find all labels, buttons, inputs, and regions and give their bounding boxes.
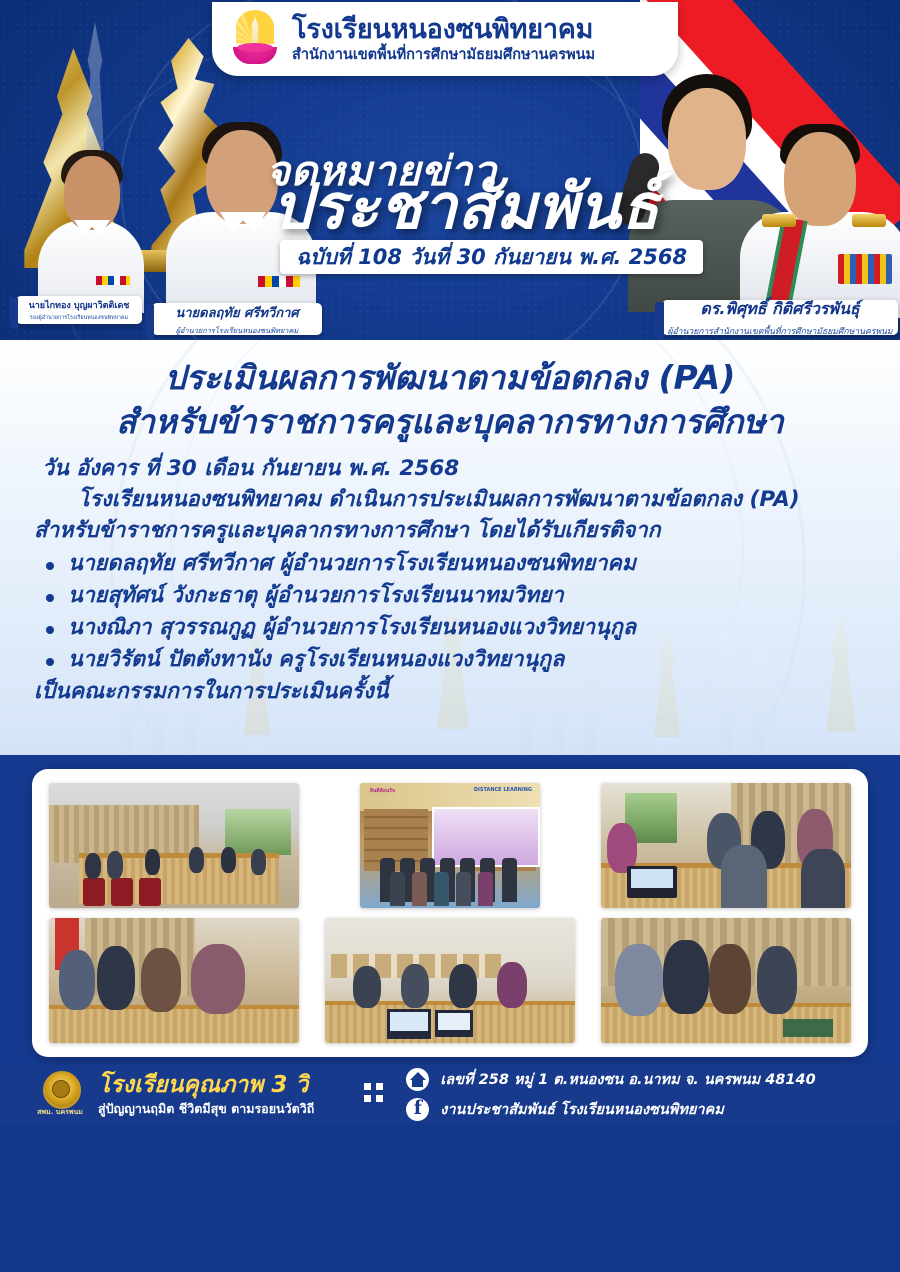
photo-person: [801, 849, 845, 908]
facebook-glyph: f: [414, 1099, 422, 1118]
emblem-lotus-base: [233, 47, 277, 64]
list-item: นางณิภา สุวรรณกูฏ ผู้อำนวยการโรงเรียนหนอ…: [34, 613, 872, 644]
gallery-photo-1: [49, 783, 299, 908]
dot: [364, 1083, 371, 1090]
photo-person: [191, 944, 245, 1014]
photo-person: [107, 851, 123, 879]
footer-dot-separator: [364, 1083, 384, 1105]
slogan-sub: สู่ปัญญานฤมิต ชีวิตมีสุข ตามรอยนวัตวิถี: [98, 1102, 314, 1115]
school-emblem-icon: [228, 9, 282, 69]
portrait-medal-ribbon: [96, 276, 130, 285]
issue-date-badge: ฉบับที่ 108 วันที่ 30 กันยายน พ.ศ. 2568: [280, 240, 703, 274]
facebook-icon[interactable]: f: [406, 1098, 429, 1121]
photo-banner-text: DISTANCE LEARNING: [474, 787, 532, 793]
portrait-medal-ribbon: [258, 276, 300, 287]
footer-address: เลขที่ 258 หมู่ 1 ต.หนองซน อ.นาทม จ. นคร…: [440, 1068, 815, 1091]
photo-person: [412, 872, 427, 906]
photo-laptop: [627, 866, 677, 898]
portrait-area-director: [740, 108, 900, 318]
portrait-epaulet-right: [852, 214, 886, 227]
photo-shelf: [364, 809, 428, 871]
photo-person: [97, 946, 135, 1010]
photo-person: [502, 858, 517, 902]
headline-line1: ประเมินผลการพัฒนาตามข้อตกลง (PA): [0, 356, 900, 400]
name-tag-name: นายดลฤทัย ศรีทวีกาศ: [175, 302, 298, 323]
body-line-subject: สำหรับข้าราชการครูและบุคลากรทางการศึกษา …: [34, 516, 872, 547]
home-icon: [406, 1068, 429, 1091]
name-tag-role: รองผู้อำนวยการโรงเรียนหนองซนพิทยาคม: [30, 314, 128, 322]
photo-grid: ยินดีต้อนรับ DISTANCE LEARNING: [32, 769, 868, 1057]
photo-chair: [139, 878, 161, 906]
newsletter-title-line2: ประชาสัมพันธ์: [272, 176, 742, 238]
gallery-photo-6: [601, 918, 851, 1043]
body-line-intro: โรงเรียนหนองซนพิทยาคม ดำเนินการประเมินผล…: [78, 485, 872, 516]
photo-desk-pad: [783, 1019, 833, 1037]
photo-gallery-section: ยินดีต้อนรับ DISTANCE LEARNING: [0, 755, 900, 1065]
footer-address-row: เลขที่ 258 หมู่ 1 ต.หนองซน อ.นาทม จ. นคร…: [406, 1068, 815, 1091]
list-item: นายดลฤทัย ศรีทวีกาศ ผู้อำนวยการโรงเรียนห…: [34, 549, 872, 580]
logo-label: สพม. นครพนม: [34, 1107, 86, 1118]
gallery-photo-3: [601, 783, 851, 908]
photo-person: [221, 847, 236, 873]
dot: [376, 1095, 383, 1102]
gallery-photo-4: [49, 918, 299, 1043]
photo-person: [434, 872, 449, 906]
photo-person: [145, 849, 160, 875]
photo-person: [390, 872, 405, 906]
headline-line2: สำหรับข้าราชการครูและบุคลากรทางการศึกษา: [0, 400, 900, 444]
name-tag-name: ดร.พิศุทธิ์ กิติศรีวรพันธุ์: [700, 297, 859, 322]
home-icon-body: [412, 1080, 423, 1087]
portrait-face: [668, 88, 746, 190]
headline: ประเมินผลการพัฒนาตามข้อตกลง (PA) สำหรับข…: [0, 356, 900, 443]
name-tag-name: นายไกทอง บุญผาวิตติเดช: [29, 298, 130, 312]
school-office-name: สำนักงานเขตพื้นที่การศึกษามัธยมศึกษานครพ…: [292, 48, 595, 63]
photo-person: [189, 847, 204, 873]
header-banner: โรงเรียนหนองซนพิทยาคม สำนักงานเขตพื้นที่…: [0, 0, 900, 340]
footer-facebook-row[interactable]: f งานประชาสัมพันธ์ โรงเรียนหนองซนพิทยาคม: [406, 1098, 815, 1121]
committee-list: นายดลฤทัย ศรีทวีกาศ ผู้อำนวยการโรงเรียนห…: [34, 549, 872, 676]
photo-person: [401, 964, 429, 1008]
logo-inner: [52, 1080, 70, 1098]
photo-laptop: [435, 1010, 473, 1037]
photo-person: [449, 964, 477, 1008]
body-line-closing: เป็นคณะกรรมการในการประเมินครั้งนี้: [34, 677, 872, 708]
gallery-photo-2: ยินดีต้อนรับ DISTANCE LEARNING: [360, 783, 540, 908]
footer-facebook: งานประชาสัมพันธ์ โรงเรียนหนองซนพิทยาคม: [440, 1098, 724, 1121]
photo-person: [615, 944, 663, 1016]
body-text-block: วัน อังคาร ที่ 30 เดือน กันยายน พ.ศ. 256…: [34, 454, 872, 708]
portrait-deputy-director: [38, 128, 144, 313]
content-section: ประเมินผลการพัฒนาตามข้อตกลง (PA) สำหรับข…: [0, 340, 900, 755]
photo-chair: [111, 878, 133, 906]
photo-person: [497, 962, 527, 1008]
photo-person: [251, 849, 266, 875]
list-item: นายสุทัศน์ วังกะธาตุ ผู้อำนวยการโรงเรียน…: [34, 581, 872, 612]
photo-banner-text: ยินดีต้อนรับ: [370, 787, 395, 795]
portrait-medals: [838, 254, 892, 284]
portrait-face: [64, 156, 120, 230]
photo-person: [353, 966, 381, 1008]
body-line-date: วัน อังคาร ที่ 30 เดือน กันยายน พ.ศ. 256…: [42, 454, 872, 485]
newsletter-page: โรงเรียนหนองซนพิทยาคม สำนักงานเขตพื้นที่…: [0, 0, 900, 1272]
photo-person: [709, 944, 751, 1014]
dot: [364, 1095, 371, 1102]
photo-table: [49, 1005, 299, 1043]
footer-bar: สพม. นครพนม โรงเรียนคุณภาพ 3 วิ สู่ปัญญา…: [0, 1065, 900, 1123]
home-icon-roof: [410, 1072, 426, 1080]
dot: [376, 1083, 383, 1090]
name-tag-area-director: ดร.พิศุทธิ์ กิติศรีวรพันธุ์ ผู้อำนวยการส…: [662, 300, 898, 335]
photo-chair: [83, 878, 105, 906]
footer-slogan-block: โรงเรียนคุณภาพ 3 วิ สู่ปัญญานฤมิต ชีวิตม…: [98, 1073, 314, 1114]
photo-laptop: [387, 1009, 431, 1039]
photo-person: [59, 950, 95, 1010]
school-name: โรงเรียนหนองซนพิทยาคม: [292, 16, 595, 43]
footer-contact-block: เลขที่ 258 หมู่ 1 ต.หนองซน อ.นาทม จ. นคร…: [406, 1068, 815, 1121]
name-tag-role: ผู้อำนวยการสำนักงานเขตพื้นที่การศึกษามัธ…: [667, 324, 892, 338]
school-identity-bar: โรงเรียนหนองซนพิทยาคม สำนักงานเขตพื้นที่…: [212, 2, 678, 76]
photo-person: [721, 845, 767, 908]
photo-person: [478, 872, 493, 906]
photo-person: [757, 946, 797, 1014]
photo-person: [85, 853, 101, 879]
photo-person: [456, 872, 471, 906]
portrait-epaulet-left: [762, 214, 796, 227]
gallery-photo-5: [325, 918, 575, 1043]
name-tag-role: ผู้อำนวยการโรงเรียนหนองซนพิทยาคม: [176, 325, 299, 337]
list-item: นายวิรัตน์ ปัตตังทานัง ครูโรงเรียนหนองแว…: [34, 645, 872, 676]
portrait-face: [784, 132, 856, 226]
photo-person: [141, 948, 181, 1012]
slogan-main: โรงเรียนคุณภาพ 3 วิ: [98, 1073, 314, 1097]
name-tag-deputy-director: นายไกทอง บุญผาวิตติเดช รองผู้อำนวยการโรง…: [16, 296, 142, 324]
photo-person: [663, 940, 709, 1014]
name-tag-school-director: นายดลฤทัย ศรีทวีกาศ ผู้อำนวยการโรงเรียนห…: [152, 303, 322, 335]
school-text-block: โรงเรียนหนองซนพิทยาคม สำนักงานเขตพื้นที่…: [292, 16, 595, 63]
area-office-logo-icon: สพม. นครพนม: [34, 1069, 86, 1119]
